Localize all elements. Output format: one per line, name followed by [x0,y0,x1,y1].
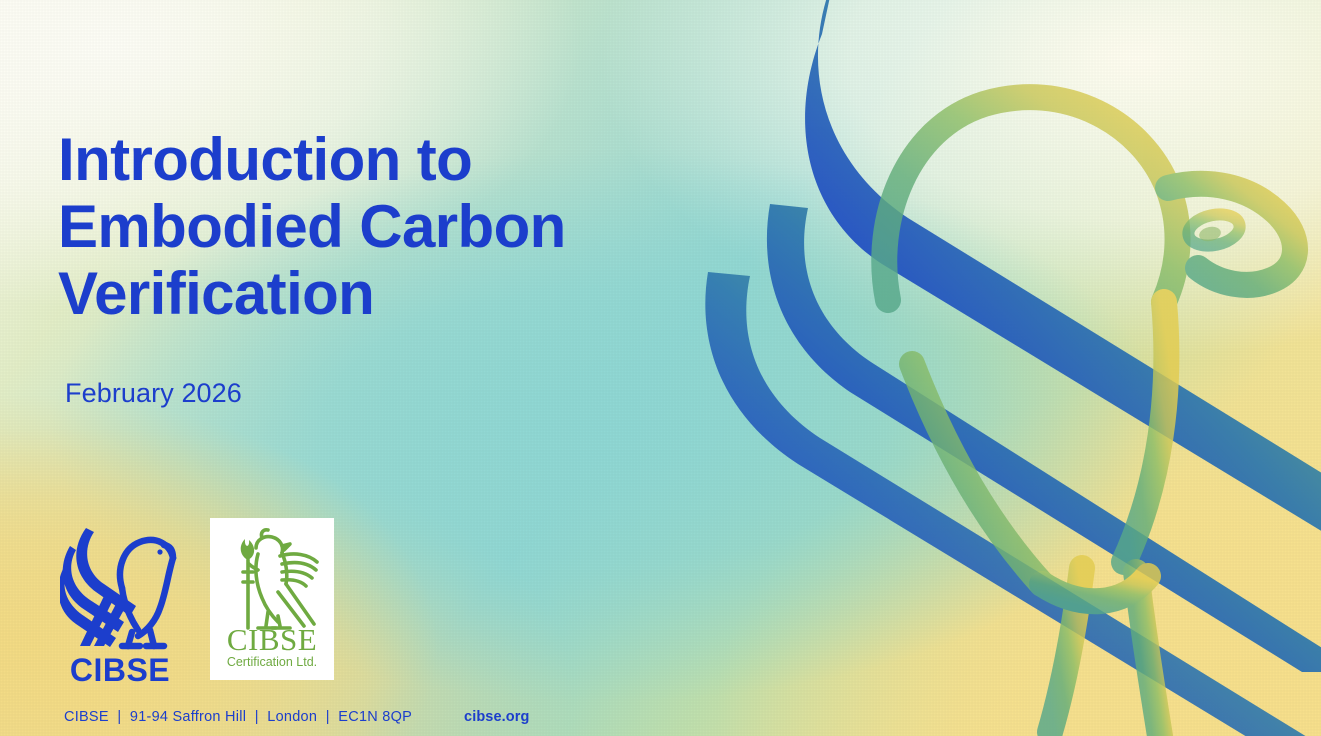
title-block: Introduction to Embodied Carbon Verifica… [58,126,698,327]
hero-bird-watermark-icon [612,0,1321,736]
footer-address: CIBSE | 91-94 Saffron Hill | London | EC… [64,709,412,725]
page-title: Introduction to Embodied Carbon Verifica… [58,126,698,327]
cibse-certification-logo: CIBSE Certification Ltd. [210,518,334,680]
cibse-logo: CIBSE [60,518,180,686]
logo-row: CIBSE [60,518,334,686]
cert-logo-sub-wordmark: Certification Ltd. [227,655,317,669]
title-slide: Introduction to Embodied Carbon Verifica… [0,0,1321,736]
cibse-logo-wordmark: CIBSE [70,652,170,686]
cert-logo-wordmark: CIBSE [227,622,317,657]
footer: CIBSE | 91-94 Saffron Hill | London | EC… [64,709,529,725]
liver-bird-with-torch-icon [241,530,317,628]
footer-website-link[interactable]: cibse.org [464,709,529,725]
slide-date: February 2026 [65,376,242,410]
